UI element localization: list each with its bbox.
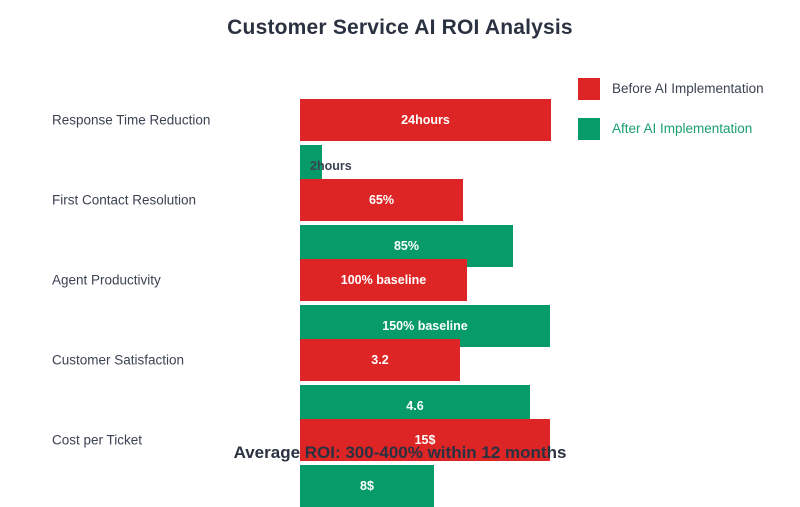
bar-value-label: 2hours (310, 159, 352, 173)
legend-swatch-before-icon (578, 78, 600, 100)
chart-container: Customer Service AI ROI Analysis Respons… (0, 0, 800, 500)
roi-annotation: Average ROI: 300-400% within 12 months (0, 443, 800, 463)
legend-swatch-after-icon (578, 118, 600, 140)
category-label: Agent Productivity (52, 273, 161, 288)
bar-value-label: 65% (369, 193, 394, 207)
bar-value-label: 4.6 (406, 399, 423, 413)
bar-value-label: 100% baseline (341, 273, 426, 287)
bar-before[interactable]: 100% baseline (300, 259, 467, 301)
chart-legend: Before AI Implementation After AI Implem… (578, 78, 792, 158)
legend-label-before: Before AI Implementation (612, 78, 764, 100)
bar-value-label: 3.2 (371, 353, 388, 367)
category-label: First Contact Resolution (52, 193, 196, 208)
bar-before[interactable]: 3.2 (300, 339, 460, 381)
legend-item-after[interactable]: After AI Implementation (578, 118, 792, 140)
bar-before[interactable]: 24hours (300, 99, 551, 141)
legend-label-after: After AI Implementation (612, 118, 752, 140)
bar-after[interactable]: 8$ (300, 465, 434, 507)
legend-item-before[interactable]: Before AI Implementation (578, 78, 792, 100)
bar-value-label: 8$ (360, 479, 374, 493)
bar-value-label: 150% baseline (382, 319, 467, 333)
plot-area: Response Time ReductionFirst Contact Res… (0, 0, 800, 500)
bar-value-label: 85% (394, 239, 419, 253)
category-label: Response Time Reduction (52, 113, 210, 128)
category-label: Customer Satisfaction (52, 353, 184, 368)
bar-before[interactable]: 65% (300, 179, 463, 221)
bar-value-label: 24hours (401, 113, 450, 127)
